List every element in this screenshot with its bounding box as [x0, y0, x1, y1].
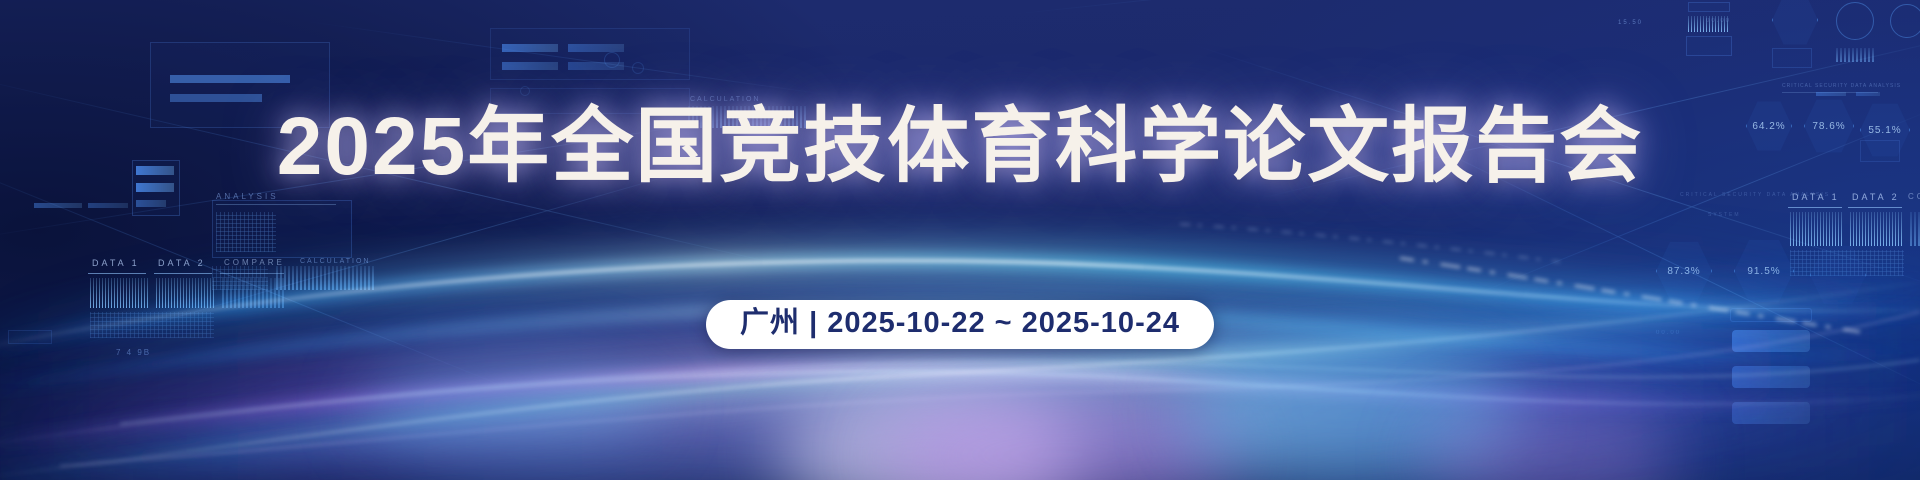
banner-subtitle-container: 广州 | 2025-10-22 ~ 2025-10-24	[0, 300, 1920, 349]
event-info-pill: 广州 | 2025-10-22 ~ 2025-10-24	[706, 300, 1214, 349]
banner-title-container: 2025年全国竞技体育科学论文报告会	[0, 106, 1920, 188]
banner-title: 2025年全国竞技体育科学论文报告会	[277, 106, 1643, 188]
conference-banner: ANALYSIS CALCULATION DATA 1 DATA 2 COMPA…	[0, 0, 1920, 480]
event-info-text: 广州 | 2025-10-22 ~ 2025-10-24	[740, 307, 1180, 339]
